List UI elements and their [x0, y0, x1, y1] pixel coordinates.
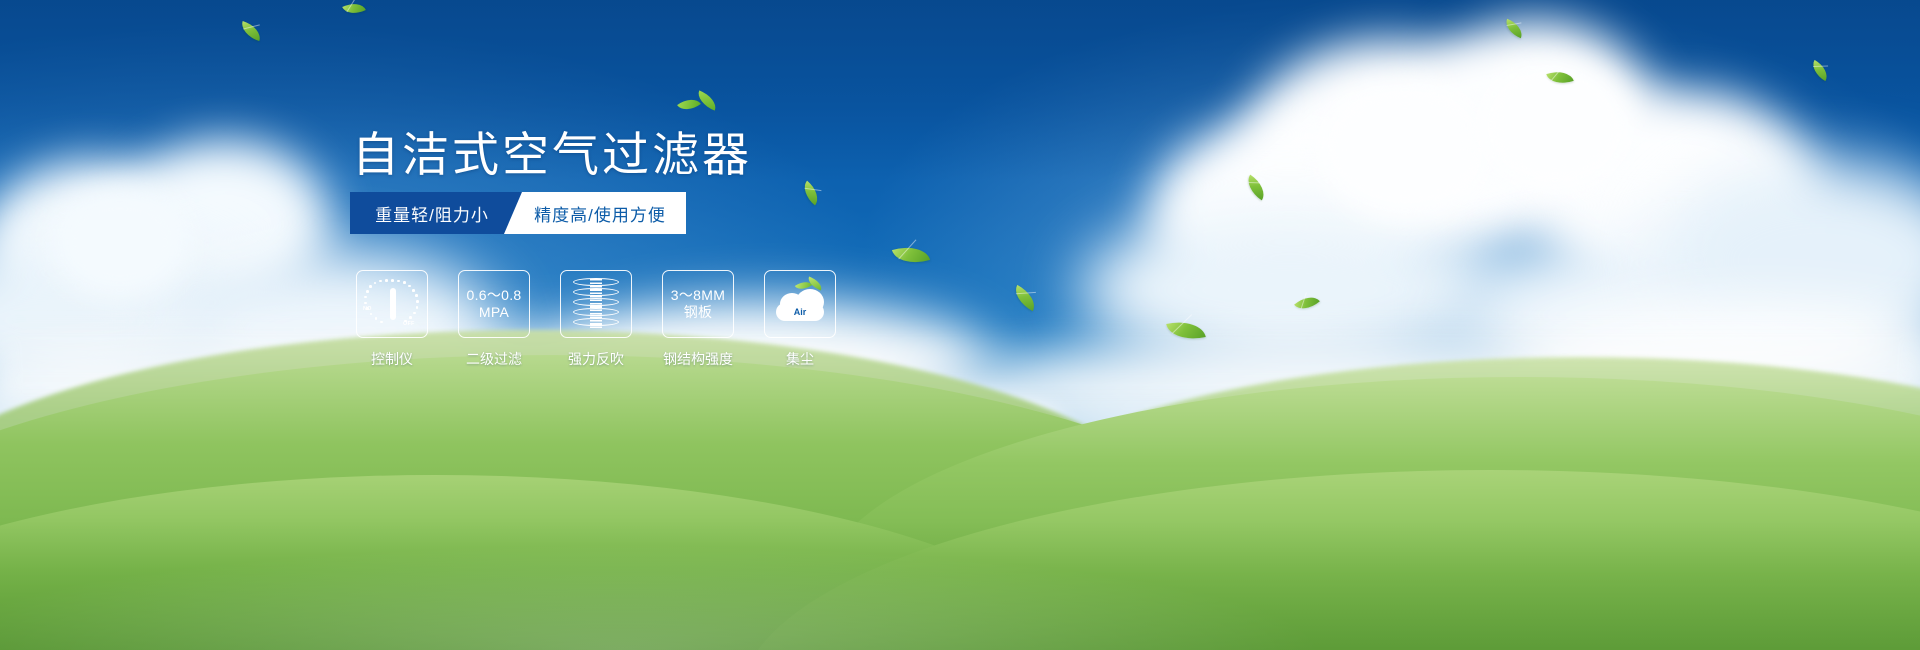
feature-icon-box: 0.6～0.8 MPA: [458, 270, 530, 338]
feature-item-dust[interactable]: Air 集尘: [764, 270, 836, 369]
feature-icon-box: 3～8MM 钢板: [662, 270, 734, 338]
tag-row: 重量轻/阻力小 精度高/使用方便: [350, 192, 686, 234]
tag-secondary[interactable]: 精度高/使用方便: [504, 192, 686, 234]
feature-label: 强力反吹: [568, 349, 624, 369]
feature-icon-box: Air: [764, 270, 836, 338]
gauge-icon: NO OFF: [365, 279, 419, 329]
feature-label: 二级过滤: [466, 349, 522, 369]
feature-icon-box: NO OFF: [356, 270, 428, 338]
feature-list: NO OFF 控制仪 0.6～0.8 MPA 二级过滤: [356, 270, 836, 369]
air-label: Air: [774, 307, 826, 317]
feature-box-text: 0.6～0.8 MPA: [466, 287, 521, 320]
feature-label: 钢结构强度: [663, 349, 733, 369]
page-title: 自洁式空气过滤器: [352, 116, 752, 185]
feature-icon-box: [560, 270, 632, 338]
feature-item-pressure[interactable]: 0.6～0.8 MPA 二级过滤: [458, 270, 530, 369]
hero-banner: 自洁式空气过滤器 重量轻/阻力小 精度高/使用方便: [0, 0, 1920, 650]
gauge-label-on: NO: [363, 306, 372, 312]
air-cloud-icon: Air: [774, 283, 826, 325]
gauge-label-off: OFF: [403, 321, 415, 327]
feature-item-steel[interactable]: 3～8MM 钢板 钢结构强度: [662, 270, 734, 369]
filter-coil-icon: [573, 277, 619, 331]
feature-item-blowback[interactable]: 强力反吹: [560, 270, 632, 369]
banner-content: 自洁式空气过滤器 重量轻/阻力小 精度高/使用方便: [0, 0, 1920, 650]
feature-box-text: 3～8MM 钢板: [671, 287, 725, 320]
leaf-sprig-icon: [677, 92, 721, 124]
feature-item-controller[interactable]: NO OFF 控制仪: [356, 270, 428, 369]
tag-primary[interactable]: 重量轻/阻力小: [350, 192, 522, 234]
feature-label: 控制仪: [371, 349, 413, 369]
feature-label: 集尘: [786, 349, 814, 369]
